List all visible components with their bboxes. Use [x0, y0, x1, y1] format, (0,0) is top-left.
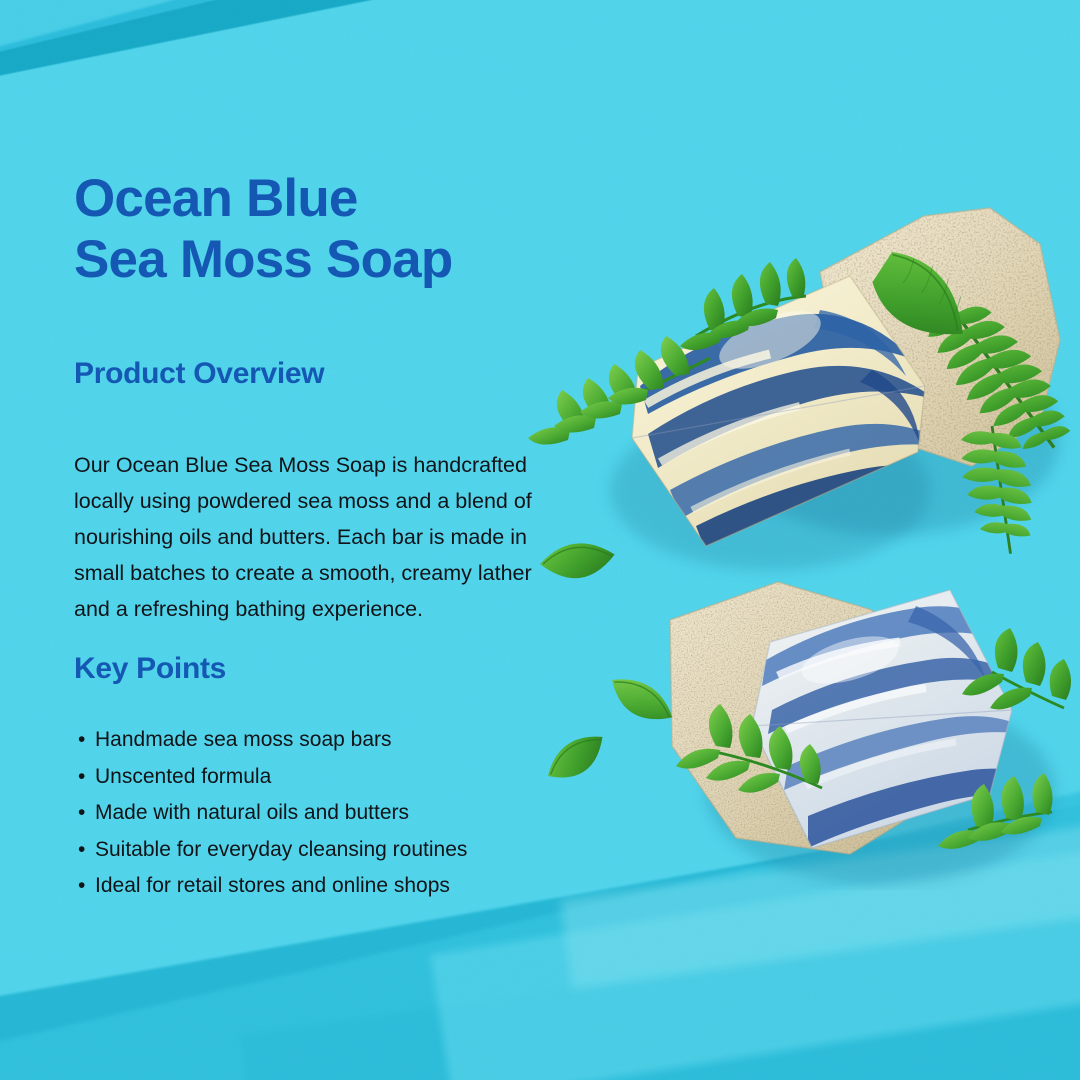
product-overview-body: Our Ocean Blue Sea Moss Soap is handcraf… [74, 447, 554, 627]
list-item: • Made with natural oils and butters [78, 795, 548, 832]
list-item: • Handmade sea moss soap bars [78, 722, 548, 759]
bullet-marker-icon: • [78, 795, 85, 832]
bullet-marker-icon: • [78, 868, 85, 905]
product-photo-composition [520, 190, 1080, 890]
product-photo-svg [520, 190, 1080, 890]
product-overview-heading: Product Overview [74, 357, 324, 391]
bullet-marker-icon: • [78, 722, 85, 759]
list-item-label: Ideal for retail stores and online shops [95, 874, 450, 897]
text-column: Ocean Blue Sea Moss Soap Product Overvie… [74, 0, 574, 1080]
list-item: • Unscented formula [78, 759, 548, 796]
list-item-label: Handmade sea moss soap bars [95, 728, 392, 751]
list-item-label: Made with natural oils and butters [95, 801, 409, 824]
key-points-list: • Handmade sea moss soap bars • Unscente… [78, 722, 548, 905]
page-title: Ocean Blue Sea Moss Soap [74, 168, 594, 290]
bullet-marker-icon: • [78, 759, 85, 796]
bullet-marker-icon: • [78, 832, 85, 869]
floating-leaf-2 [603, 672, 680, 728]
list-item: • Suitable for everyday cleansing routin… [78, 832, 548, 869]
product-infographic-poster: Ocean Blue Sea Moss Soap Product Overvie… [0, 0, 1080, 1080]
list-item: • Ideal for retail stores and online sho… [78, 868, 548, 905]
list-item-label: Unscented formula [95, 765, 271, 788]
list-item-label: Suitable for everyday cleansing routines [95, 838, 467, 861]
key-points-heading: Key Points [74, 652, 226, 686]
